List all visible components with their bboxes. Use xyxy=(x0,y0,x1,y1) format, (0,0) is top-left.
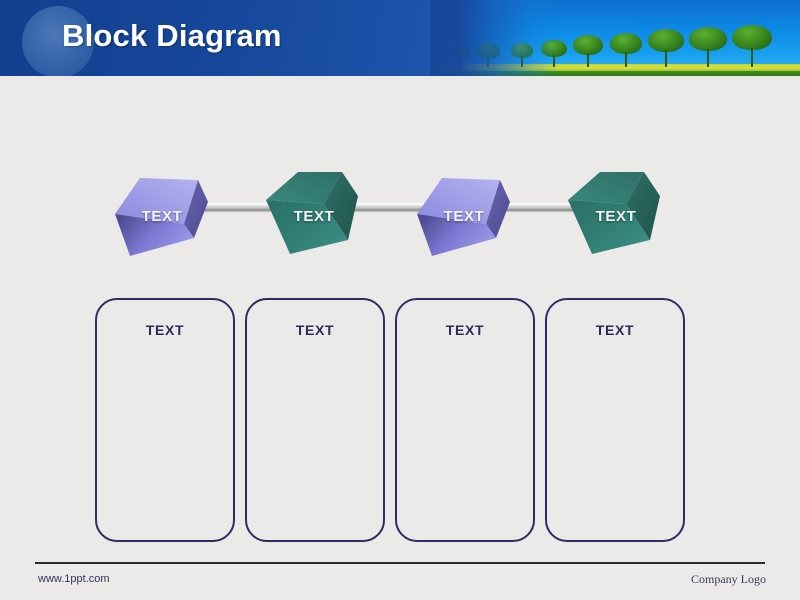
photo-fade-overlay xyxy=(430,0,560,76)
text-box-1[interactable]: TEXT xyxy=(95,298,235,542)
page-title: Block Diagram xyxy=(62,18,282,54)
text-box-3[interactable]: TEXT xyxy=(395,298,535,542)
block-cube-2[interactable]: TEXT xyxy=(262,156,366,260)
text-box-2-label: TEXT xyxy=(247,322,383,338)
block-cube-4[interactable]: TEXT xyxy=(564,156,668,260)
text-box-4[interactable]: TEXT xyxy=(545,298,685,542)
text-box-1-label: TEXT xyxy=(97,322,233,338)
tree-line-landscape-photo xyxy=(430,0,800,76)
slide-header: Block Diagram xyxy=(0,0,800,76)
text-box-3-label: TEXT xyxy=(397,322,533,338)
slide-canvas: Block Diagram xyxy=(0,0,800,600)
block-cube-1[interactable]: TEXT xyxy=(110,158,214,262)
text-box-row: TEXT TEXT TEXT TEXT xyxy=(95,298,685,542)
footer-website-text: www.1ppt.com xyxy=(38,573,110,585)
text-box-4-label: TEXT xyxy=(547,322,683,338)
footer-company-logo-text: Company Logo xyxy=(691,572,766,587)
block-chain: TEXT xyxy=(0,148,800,278)
footer-divider xyxy=(35,562,765,564)
block-cube-3[interactable]: TEXT xyxy=(412,158,516,262)
text-box-2[interactable]: TEXT xyxy=(245,298,385,542)
